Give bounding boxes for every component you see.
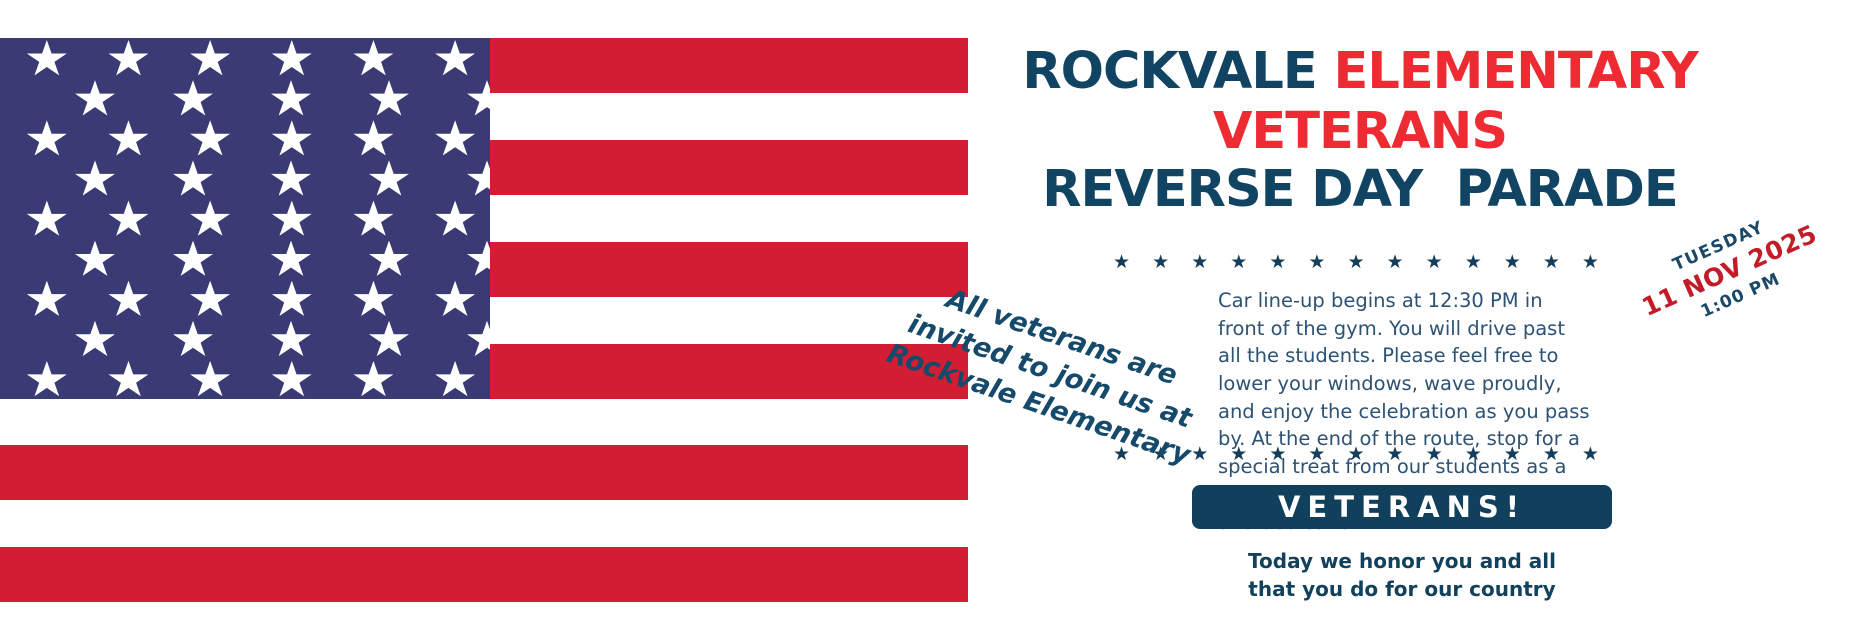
flag-star-icon — [467, 321, 490, 359]
flag-star-icon — [27, 200, 67, 238]
tagline: Today we honor you and all that you do f… — [1162, 548, 1642, 603]
flag-star-icon — [353, 281, 393, 319]
flag-star-icon — [27, 120, 67, 158]
flag-star-icon — [369, 80, 409, 118]
flag-star-icon — [271, 160, 311, 198]
flag-stripe-red-6 — [0, 547, 968, 602]
flag-star-icon — [435, 120, 475, 158]
flag-star-icon — [190, 361, 230, 399]
date-stamp: TUESDAY 11 NOV 2025 1:00 PM — [1610, 190, 1850, 393]
flag-star-icon — [271, 241, 311, 279]
flag-star-icon — [467, 80, 490, 118]
flag-star-row — [0, 281, 490, 319]
flag-star-icon — [75, 321, 115, 359]
flag-star-icon — [27, 361, 67, 399]
flag-star-icon — [435, 40, 475, 78]
veterans-banner: VETERANS! — [1192, 485, 1612, 529]
flag-star-icon — [108, 200, 148, 238]
flag-star-icon — [173, 160, 213, 198]
page-title-line-1: ROCKVALE ELEMENTARY — [1010, 46, 1710, 97]
flag-star-icon — [435, 200, 475, 238]
flag-star-row — [0, 361, 490, 399]
flag-star-icon — [369, 241, 409, 279]
flag-star-icon — [435, 361, 475, 399]
tagline-line-2: that you do for our country — [1162, 576, 1642, 604]
flag-star-icon — [271, 80, 311, 118]
flag-star-row — [0, 120, 490, 158]
flag-star-row — [0, 160, 490, 198]
flag-star-icon — [173, 241, 213, 279]
flag-star-icon — [272, 200, 312, 238]
flag-star-icon — [27, 281, 67, 319]
flag-star-icon — [272, 281, 312, 319]
flag-star-icon — [75, 80, 115, 118]
flag-star-icon — [27, 40, 67, 78]
flag-star-icon — [108, 281, 148, 319]
flag-star-row — [0, 80, 490, 118]
flag-star-icon — [271, 321, 311, 359]
flag-star-icon — [190, 120, 230, 158]
page-title-school: ROCKVALE — [1022, 42, 1333, 101]
american-flag — [0, 0, 968, 600]
flag-star-row — [0, 321, 490, 359]
flag-stripe-red-5 — [0, 445, 968, 500]
flag-star-icon — [75, 160, 115, 198]
page-title-line-2: VETERANS — [1010, 106, 1710, 157]
star-divider-top: ★ ★ ★ ★ ★ ★ ★ ★ ★ ★ ★ ★ ★ — [1010, 253, 1710, 272]
flag-star-icon — [467, 160, 490, 198]
flag-star-icon — [353, 40, 393, 78]
flag-star-icon — [353, 200, 393, 238]
flag-star-icon — [272, 40, 312, 78]
flag-star-icon — [190, 200, 230, 238]
flag-star-icon — [75, 241, 115, 279]
flag-star-row — [0, 40, 490, 78]
veterans-banner-label: VETERANS! — [1278, 493, 1526, 522]
page-title-elementary: ELEMENTARY — [1333, 42, 1697, 101]
page-title-line-3: REVERSE DAY PARADE — [1010, 164, 1710, 215]
flag-star-row — [0, 200, 490, 238]
flag-star-icon — [190, 281, 230, 319]
flag-star-icon — [272, 361, 312, 399]
flag-star-icon — [272, 120, 312, 158]
flag-star-icon — [353, 361, 393, 399]
flag-star-icon — [467, 241, 490, 279]
flag-star-row — [0, 241, 490, 279]
flag-star-icon — [435, 281, 475, 319]
flag-star-icon — [190, 40, 230, 78]
flag-star-icon — [108, 40, 148, 78]
flag-star-icon — [108, 361, 148, 399]
flag-canton — [0, 38, 490, 399]
flag-star-icon — [173, 321, 213, 359]
flag-star-icon — [369, 321, 409, 359]
tagline-line-1: Today we honor you and all — [1162, 548, 1642, 576]
flag-star-icon — [108, 120, 148, 158]
flag-star-icon — [173, 80, 213, 118]
flag-star-icon — [369, 160, 409, 198]
flyer-content: ROCKVALE ELEMENTARY VETERANS REVERSE DAY… — [1010, 0, 1850, 630]
flag-star-icon — [353, 120, 393, 158]
